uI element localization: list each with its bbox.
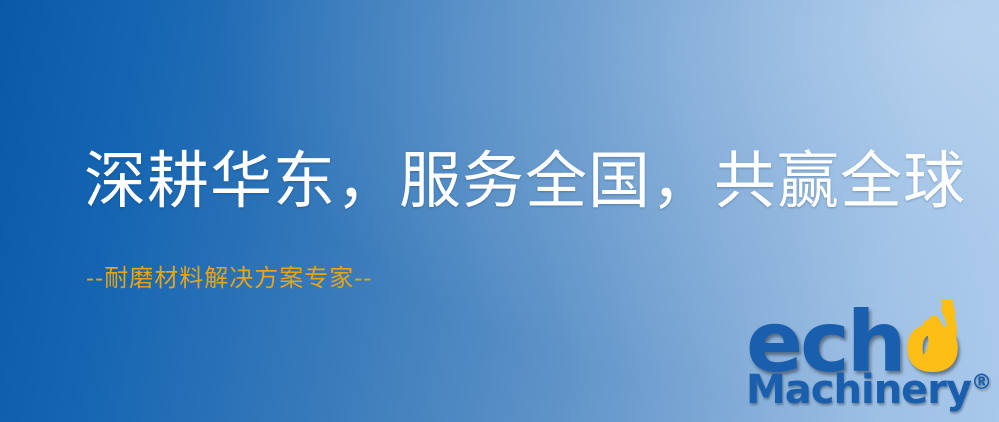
registered-trademark-icon: ®	[971, 370, 992, 394]
echo-machinery-logo: echo Machinery®	[744, 300, 996, 422]
signal-waves-icon	[920, 299, 996, 369]
banner-headline: 深耕华东，服务全国，共赢全球	[84, 150, 966, 212]
logo-tagline-text: Machinery	[746, 367, 971, 413]
banner-subtitle: --耐磨材料解决方案专家--	[86, 266, 372, 290]
logo-tagline: Machinery®	[746, 370, 992, 410]
promo-banner: 深耕华东，服务全国，共赢全球 --耐磨材料解决方案专家-- echo Machi…	[0, 0, 999, 422]
